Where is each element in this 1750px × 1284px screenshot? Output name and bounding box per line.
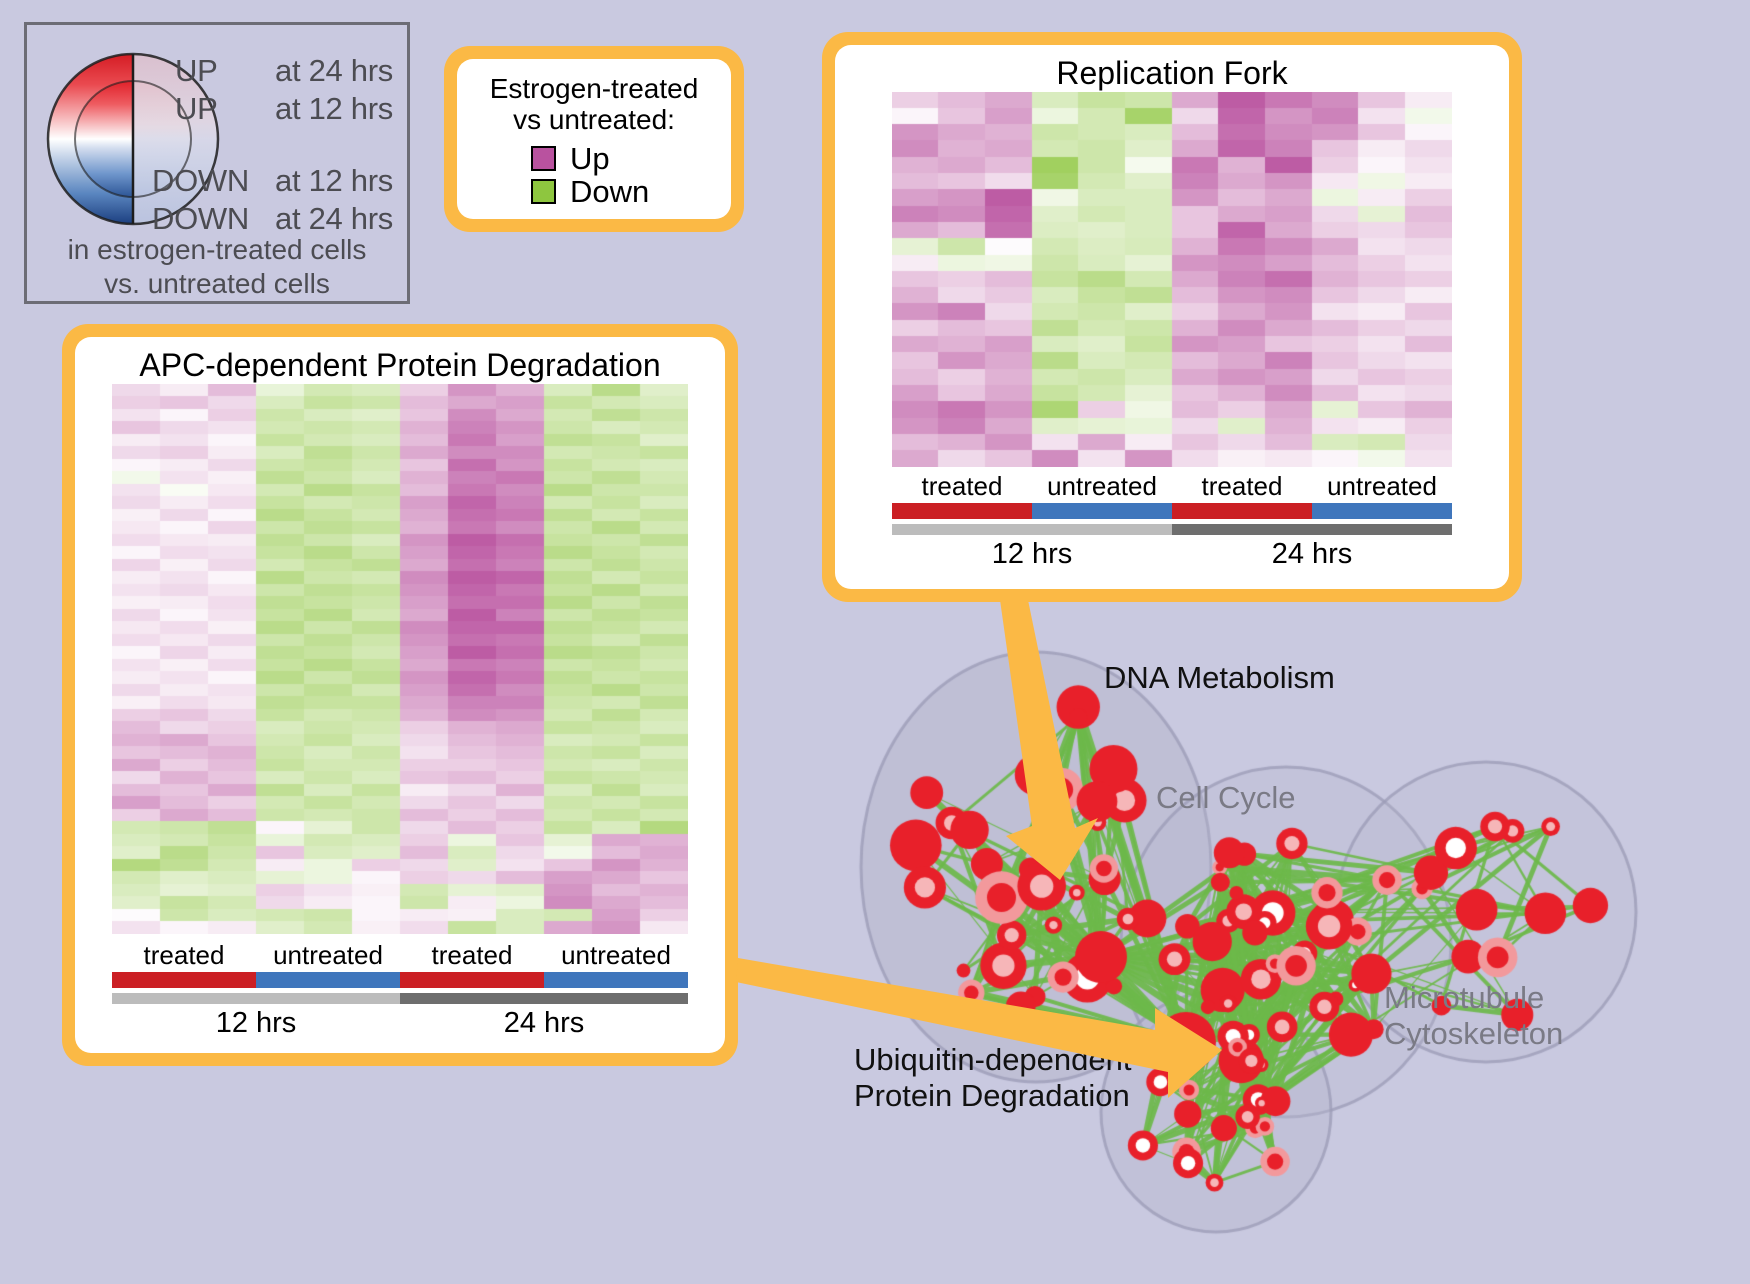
- apc-time-label-12: 12 hrs: [112, 1004, 400, 1040]
- rf-timebar-24: [1172, 524, 1452, 535]
- replication-fork-time-bars: [892, 524, 1452, 535]
- cluster-label-cytoskeleton: Cytoskeleton: [1384, 1016, 1563, 1051]
- apc-group-label-1: untreated: [256, 940, 400, 971]
- rf-group-label-2: treated: [1172, 471, 1312, 502]
- apc-bar-treated-24: [400, 972, 544, 988]
- replication-fork-time-labels: 12 hrs 24 hrs: [892, 535, 1452, 571]
- apc-time-bars: [112, 993, 688, 1004]
- apc-title: APC-dependent Protein Degradation: [75, 337, 725, 384]
- key-footer: in estrogen-treated cells vs. untreated …: [27, 233, 407, 301]
- apc-timebar-12: [112, 993, 400, 1004]
- apc-group-label-0: treated: [112, 940, 256, 971]
- key-time-up-24: at 24 hrs: [275, 53, 393, 89]
- down-color-swatch: [531, 179, 556, 204]
- network-canvas: [786, 612, 1750, 1279]
- apc-group-labels: treated untreated treated untreated: [112, 940, 688, 971]
- legend-title-line1: Estrogen-treated: [457, 73, 731, 104]
- rf-timebar-12: [892, 524, 1172, 535]
- up-color-swatch: [531, 146, 556, 171]
- key-time-down-24: at 24 hrs: [275, 201, 393, 237]
- key-time-down-12: at 12 hrs: [275, 163, 393, 199]
- rf-bar-treated-24: [1172, 503, 1312, 519]
- pathway-network-diagram: DNA Metabolism Cell Cycle Microtubule Cy…: [786, 612, 1750, 1279]
- key-time-up-12: at 12 hrs: [275, 91, 393, 127]
- apc-heatmap: [112, 384, 688, 934]
- apc-group-label-2: treated: [400, 940, 544, 971]
- key-label-down-24: DOWN: [152, 201, 249, 237]
- key-footer-line1: in estrogen-treated cells: [27, 233, 407, 267]
- cluster-label-ubiquitin-line2: Protein Degradation: [854, 1078, 1130, 1113]
- legend-title-line2: vs untreated:: [457, 104, 731, 135]
- legend-item-down: Down: [531, 176, 731, 207]
- apc-bar-treated-12: [112, 972, 256, 988]
- key-label-down-12: DOWN: [152, 163, 249, 199]
- apc-timebar-24: [400, 993, 688, 1004]
- apc-group-bars: [112, 972, 688, 988]
- replication-fork-panel: Replication Fork treated untreated treat…: [822, 32, 1522, 602]
- rf-group-label-1: untreated: [1032, 471, 1172, 502]
- apc-time-labels: 12 hrs 24 hrs: [112, 1004, 688, 1040]
- legend-item-up-label: Up: [570, 143, 610, 174]
- cluster-label-microtubule: Microtubule: [1384, 980, 1544, 1015]
- rf-bar-untreated-24: [1312, 503, 1452, 519]
- apc-degradation-panel: APC-dependent Protein Degradation treate…: [62, 324, 738, 1066]
- rf-bar-treated-12: [892, 503, 1032, 519]
- rf-group-label-0: treated: [892, 471, 1032, 502]
- cluster-label-cell-cycle: Cell Cycle: [1156, 780, 1296, 815]
- rf-time-label-24: 24 hrs: [1172, 535, 1452, 571]
- key-label-up-24: UP: [175, 53, 217, 89]
- replication-fork-heatmap: [892, 92, 1452, 467]
- replication-fork-group-labels: treated untreated treated untreated: [892, 471, 1452, 502]
- cluster-label-ubiquitin-line1: Ubiquitin-dependent: [854, 1042, 1132, 1077]
- expression-key-box: UP at 24 hrs UP at 12 hrs DOWN at 12 hrs…: [24, 22, 410, 304]
- apc-bar-untreated-24: [544, 972, 688, 988]
- legend-items: Up Down: [457, 143, 731, 207]
- apc-time-label-24: 24 hrs: [400, 1004, 688, 1040]
- legend-item-down-label: Down: [570, 176, 649, 207]
- cluster-label-dna-metabolism: DNA Metabolism: [1104, 660, 1335, 695]
- rf-time-label-12: 12 hrs: [892, 535, 1172, 571]
- apc-bar-untreated-12: [256, 972, 400, 988]
- rf-group-label-3: untreated: [1312, 471, 1452, 502]
- legend-panel: Estrogen-treated vs untreated: Up Down: [444, 46, 744, 232]
- legend-item-up: Up: [531, 143, 731, 174]
- key-label-up-12: UP: [175, 91, 217, 127]
- key-footer-line2: vs. untreated cells: [27, 267, 407, 301]
- replication-fork-group-bars: [892, 503, 1452, 519]
- apc-group-label-3: untreated: [544, 940, 688, 971]
- replication-fork-title: Replication Fork: [835, 45, 1509, 92]
- rf-bar-untreated-12: [1032, 503, 1172, 519]
